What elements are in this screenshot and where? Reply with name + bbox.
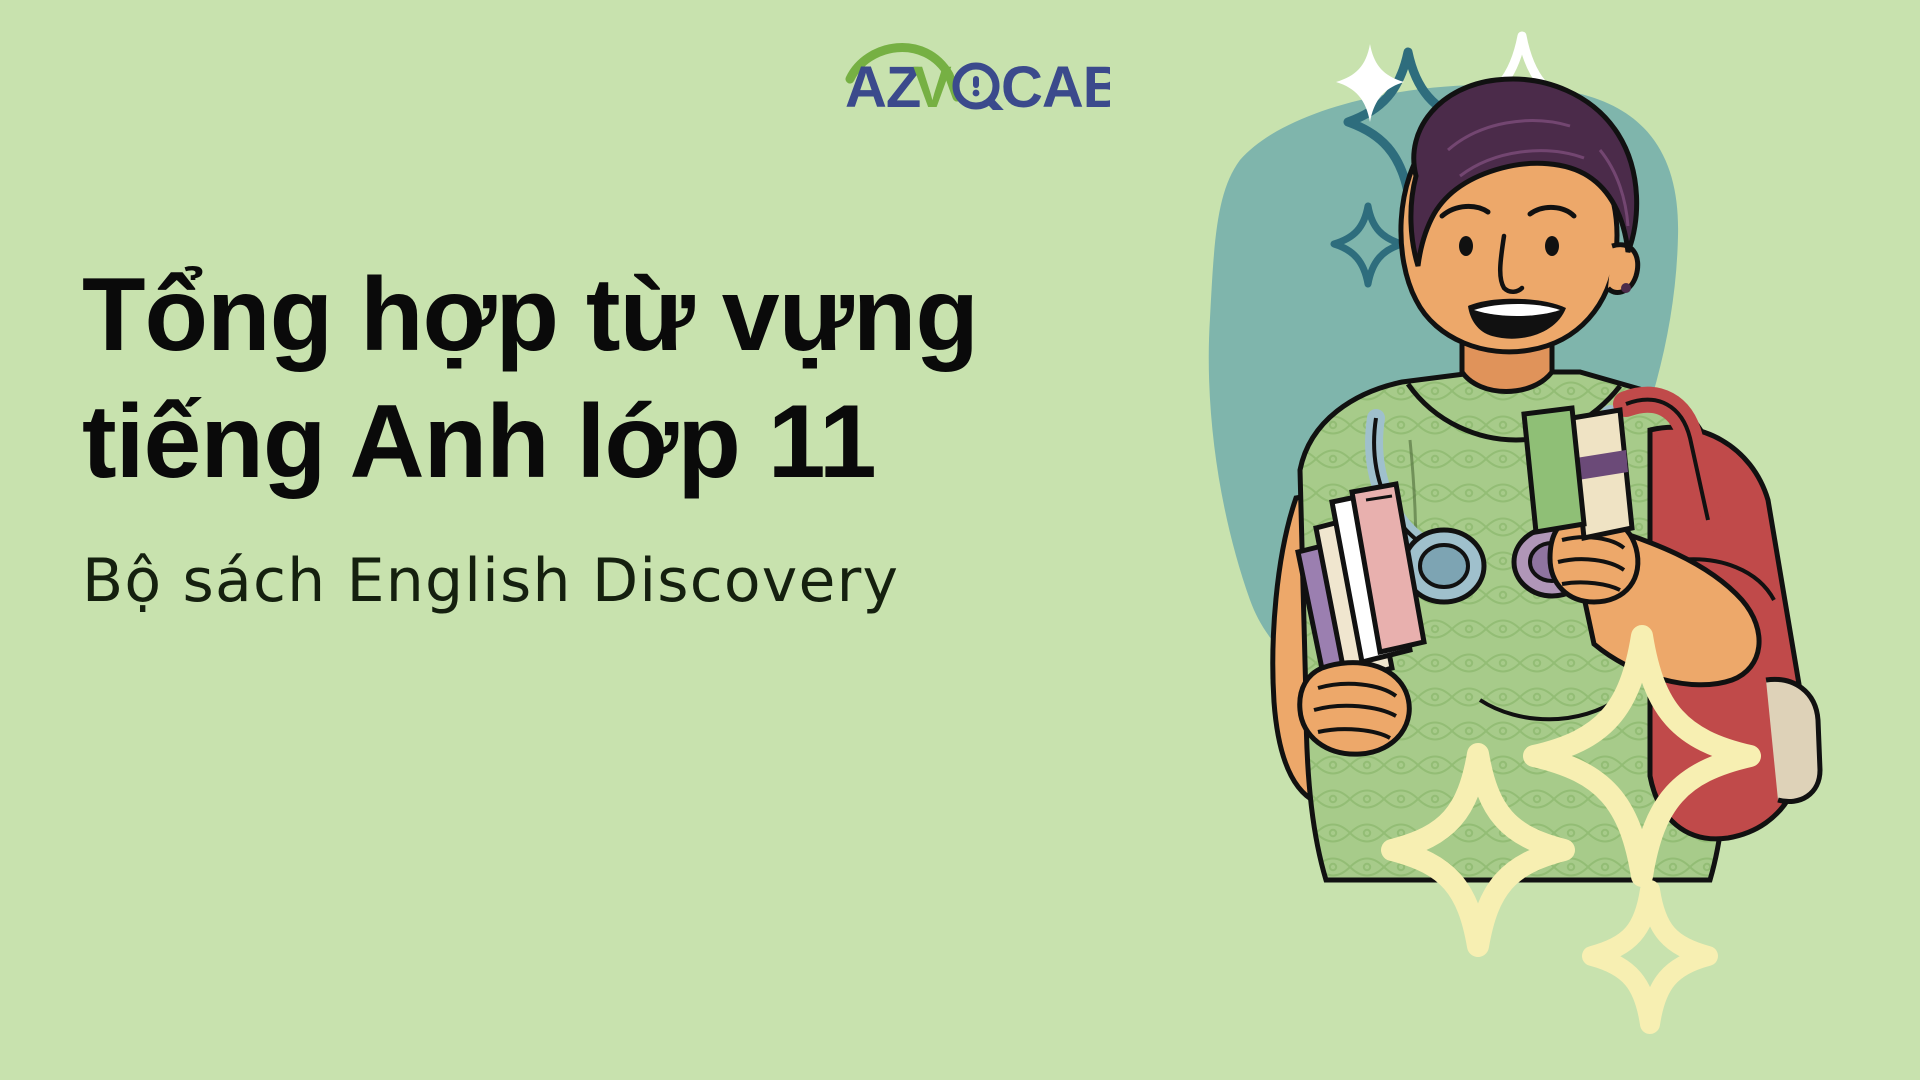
green-notebook: [1524, 408, 1584, 532]
earring: [1621, 283, 1631, 293]
magnifying-glass-icon: [956, 66, 1003, 110]
headline-block: Tổng hợp từ vựng tiếng Anh lớp 11 Bộ sác…: [82, 252, 1142, 614]
azvocab-logo[interactable]: AZ V CAB: [845, 35, 1110, 110]
headphone-earcup-left-inner: [1420, 545, 1468, 587]
page-title-line-1: Tổng hợp từ vựng: [82, 252, 1142, 379]
page-title-line-2: tiếng Anh lớp 11: [82, 379, 1142, 506]
illustration-student-boy: [1180, 0, 1920, 1080]
page-title: Tổng hợp từ vựng tiếng Anh lớp 11: [82, 252, 1142, 506]
eye-right: [1545, 236, 1559, 256]
eye-left: [1459, 236, 1473, 256]
logo-svg: AZ V CAB: [845, 35, 1110, 110]
logo-text-cab: CAB: [1001, 55, 1110, 110]
page-subtitle: Bộ sách English Discovery: [82, 548, 1142, 614]
logo-text-az: AZ: [845, 55, 920, 110]
illustration-svg: [1180, 0, 1920, 1080]
logo-text-v: V: [913, 55, 952, 110]
sparkle-cream-small: [1592, 890, 1708, 1024]
banner-canvas: AZ V CAB Tổng hợp từ vựng tiếng Anh lớp …: [0, 0, 1920, 1080]
